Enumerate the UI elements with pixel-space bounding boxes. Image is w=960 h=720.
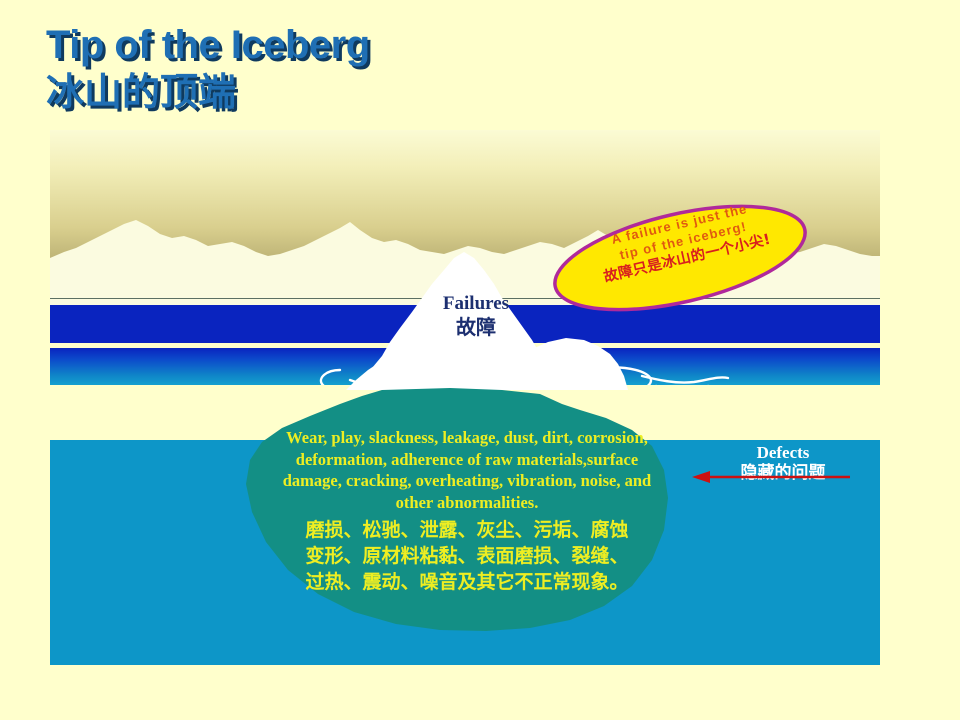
failures-label: Failures 故障 bbox=[406, 293, 546, 339]
title-english: Tip of the Iceberg bbox=[46, 22, 370, 68]
water-band-lower bbox=[50, 348, 880, 385]
page-title: Tip of the Iceberg 冰山的顶端 bbox=[46, 22, 370, 114]
failures-label-english: Failures bbox=[406, 293, 546, 315]
defects-description-english: Wear, play, slackness, leakage, dust, di… bbox=[272, 427, 662, 513]
left-arrow-icon bbox=[692, 470, 852, 484]
defects-description-chinese: 磨损、松驰、泄露、灰尘、污垢、腐蚀 变形、原材料粘黏、表面磨损、裂缝、 过热、震… bbox=[272, 517, 662, 595]
defects-label-english: Defects bbox=[718, 443, 848, 463]
wave-lines bbox=[50, 348, 880, 385]
callout-ellipse bbox=[543, 188, 818, 328]
failures-label-chinese: 故障 bbox=[406, 315, 546, 339]
slide-canvas: Tip of the Iceberg 冰山的顶端 bbox=[0, 0, 960, 720]
title-chinese: 冰山的顶端 bbox=[46, 70, 370, 114]
defects-description: Wear, play, slackness, leakage, dust, di… bbox=[272, 427, 662, 595]
